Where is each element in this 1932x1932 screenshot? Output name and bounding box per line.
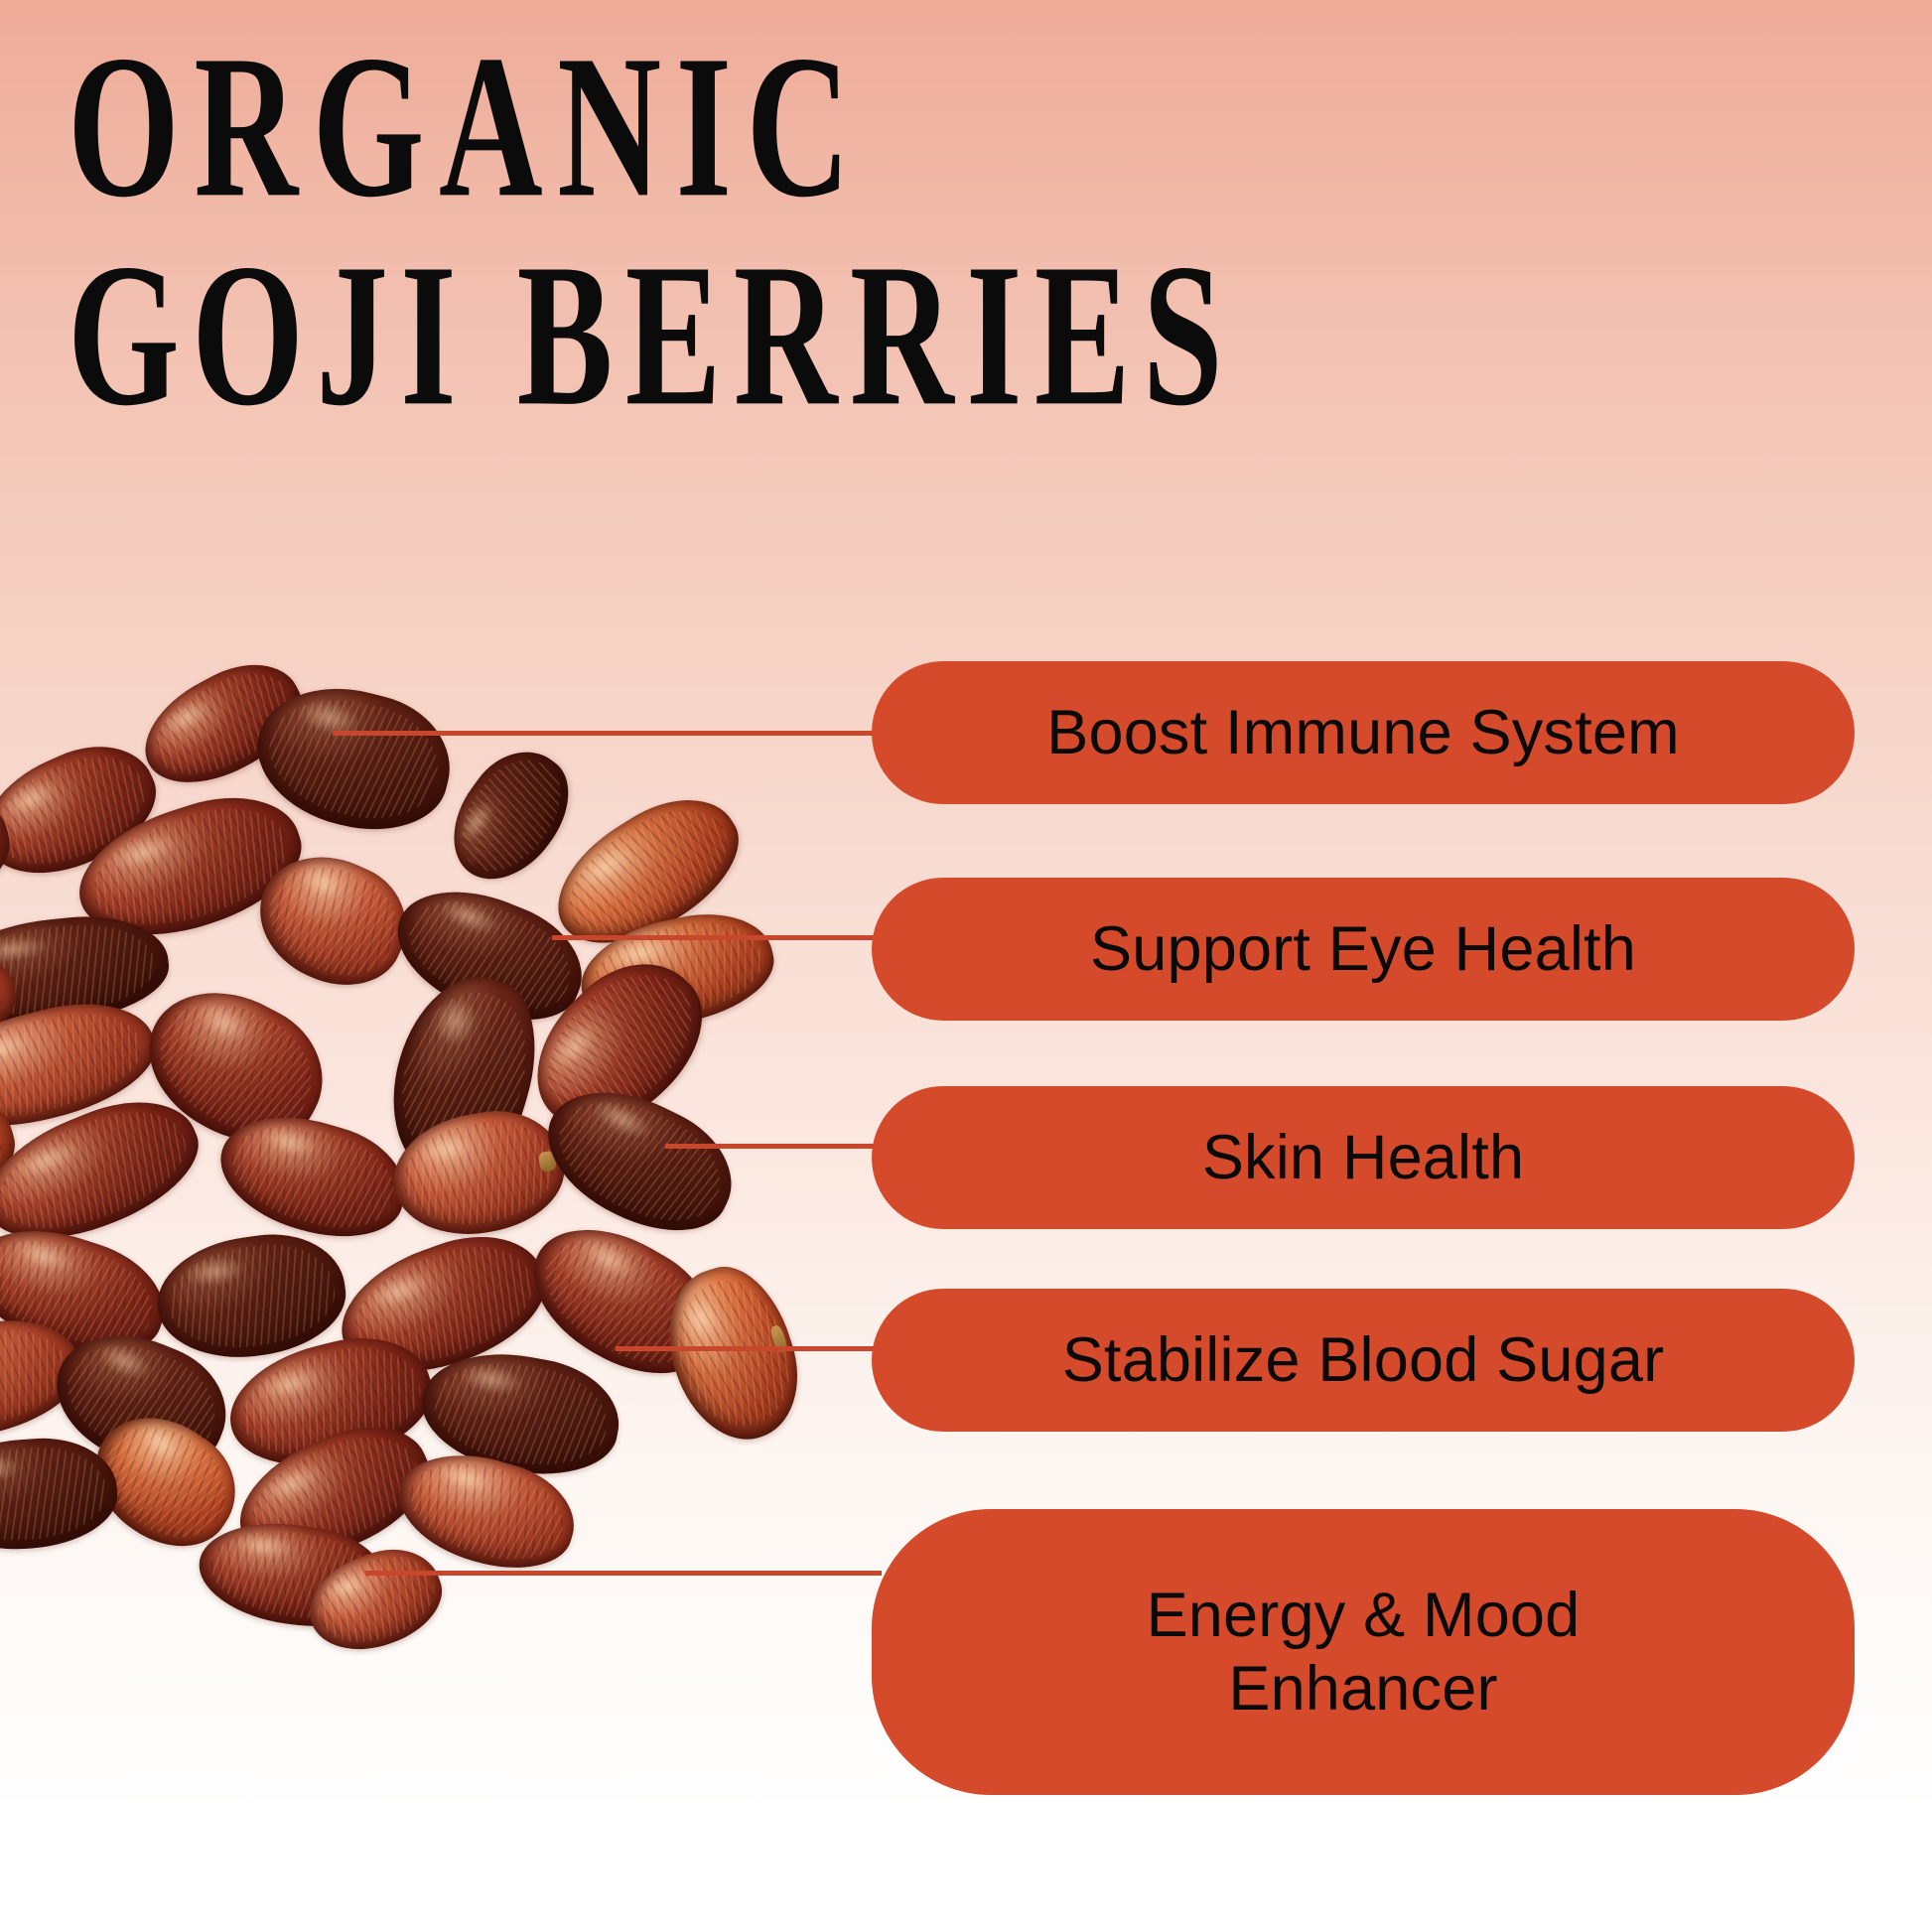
benefit-pill-boost-immune-system[interactable]: Boost Immune System [872, 661, 1855, 804]
title-line-2: GOJI BERRIES [68, 238, 1508, 433]
connector-line-3 [665, 1144, 882, 1149]
benefit-label-line-2: Enhancer [1228, 1652, 1497, 1725]
connector-line-2 [552, 935, 880, 940]
benefit-pill-energy-mood-enhancer[interactable]: Energy & Mood Enhancer [872, 1509, 1855, 1795]
benefit-pill-skin-health[interactable]: Skin Health [872, 1086, 1855, 1229]
benefit-label: Skin Health [1202, 1121, 1524, 1194]
connector-line-5 [365, 1571, 882, 1576]
page-title: ORGANIC GOJI BERRIES [68, 30, 1616, 385]
benefit-label-line-1: Energy & Mood [1147, 1579, 1581, 1652]
poster-canvas: ORGANIC GOJI BERRIES [0, 0, 1932, 1932]
connector-line-1 [333, 731, 877, 736]
benefit-label: Support Eye Health [1090, 912, 1636, 986]
connector-line-4 [616, 1346, 882, 1351]
benefit-pill-support-eye-health[interactable]: Support Eye Health [872, 878, 1855, 1021]
title-line-1: ORGANIC [68, 30, 1508, 224]
benefit-label: Boost Immune System [1046, 696, 1680, 769]
goji-berries-image [0, 685, 735, 1688]
benefit-pill-stabilize-blood-sugar[interactable]: Stabilize Blood Sugar [872, 1289, 1855, 1432]
benefit-label: Stabilize Blood Sugar [1062, 1323, 1665, 1397]
